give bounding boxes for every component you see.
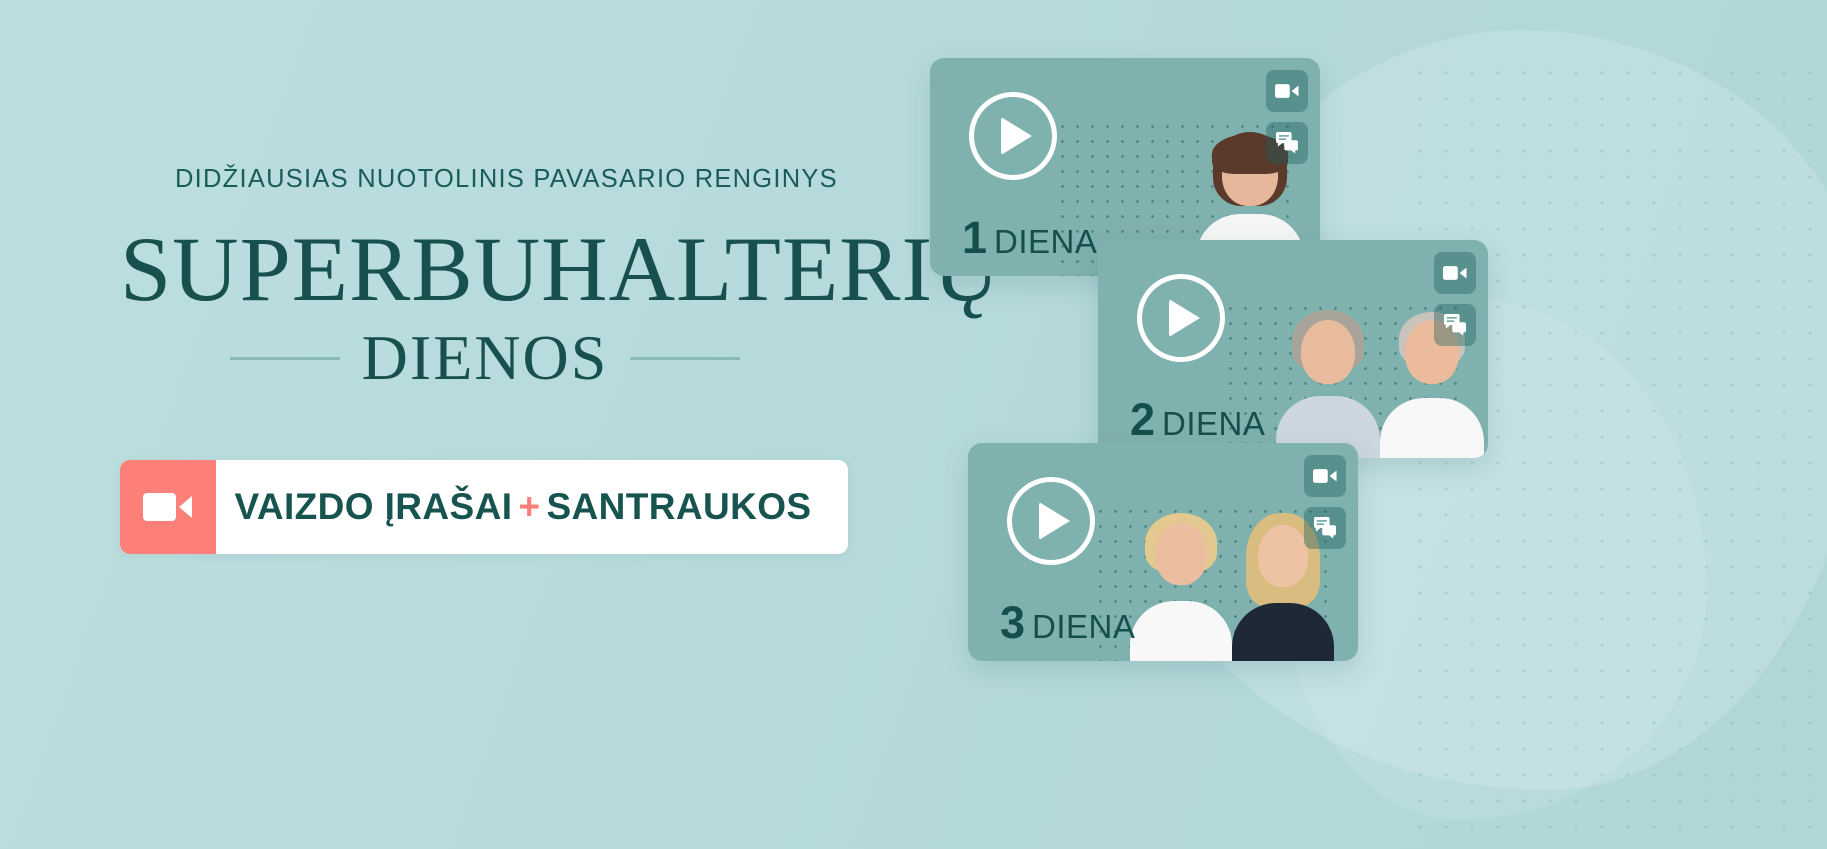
day-word: DIENA	[1032, 610, 1135, 643]
day-number: 1	[962, 215, 987, 260]
badge-chat[interactable]	[1304, 507, 1346, 549]
promo-banner: DIDŽIAUSIAS NUOTOLINIS PAVASARIO RENGINY…	[0, 0, 1827, 849]
day-number: 2	[1130, 397, 1155, 442]
day-word: DIENA	[1162, 407, 1265, 440]
card-badges	[1434, 252, 1476, 346]
page-subtitle: DIENOS	[362, 326, 609, 390]
day-word: DIENA	[994, 225, 1097, 258]
chat-bubbles-icon	[1443, 314, 1467, 336]
day-label: 1 DIENA	[962, 215, 1097, 260]
day-number: 3	[1000, 600, 1025, 645]
play-icon	[1039, 502, 1070, 540]
video-camera-icon	[142, 490, 194, 524]
badge-video[interactable]	[1266, 70, 1308, 112]
video-card-day-3[interactable]: 3 DIENA	[968, 443, 1358, 661]
avatar	[1130, 509, 1232, 661]
play-button[interactable]	[969, 92, 1057, 180]
avatar	[1276, 306, 1380, 458]
day-label: 2 DIENA	[1130, 397, 1265, 442]
badge-chat[interactable]	[1434, 304, 1476, 346]
card-badges	[1304, 455, 1346, 549]
cta-icon-container	[120, 460, 216, 554]
cta-label: VAIZDO ĮRAŠAI+SANTRAUKOS	[216, 486, 848, 528]
headline-column: DIDŽIAUSIAS NUOTOLINIS PAVASARIO RENGINY…	[0, 0, 920, 849]
cta-banner-button[interactable]: VAIZDO ĮRAŠAI+SANTRAUKOS	[120, 460, 848, 554]
video-camera-icon	[1275, 83, 1299, 99]
day-label: 3 DIENA	[1000, 600, 1135, 645]
badge-video[interactable]	[1304, 455, 1346, 497]
cta-text-after: SANTRAUKOS	[546, 486, 811, 527]
play-button[interactable]	[1137, 274, 1225, 362]
badge-chat[interactable]	[1266, 122, 1308, 164]
divider-line-left	[230, 357, 340, 360]
video-camera-icon	[1443, 265, 1467, 281]
play-button[interactable]	[1007, 477, 1095, 565]
video-camera-icon	[1313, 468, 1337, 484]
page-title: SUPERBUHALTERIŲ	[120, 223, 850, 315]
cta-plus-sign: +	[512, 486, 546, 527]
video-card-day-2[interactable]: 2 DIENA	[1098, 240, 1488, 458]
play-icon	[1001, 117, 1032, 155]
chat-bubbles-icon	[1275, 132, 1299, 154]
play-icon	[1169, 299, 1200, 337]
divider-line-right	[630, 357, 740, 360]
cta-text-before: VAIZDO ĮRAŠAI	[235, 486, 513, 527]
subtitle-row: DIENOS	[120, 326, 850, 390]
badge-video[interactable]	[1434, 252, 1476, 294]
chat-bubbles-icon	[1313, 517, 1337, 539]
card-badges	[1266, 70, 1308, 164]
kicker-text: DIDŽIAUSIAS NUOTOLINIS PAVASARIO RENGINY…	[175, 165, 838, 194]
